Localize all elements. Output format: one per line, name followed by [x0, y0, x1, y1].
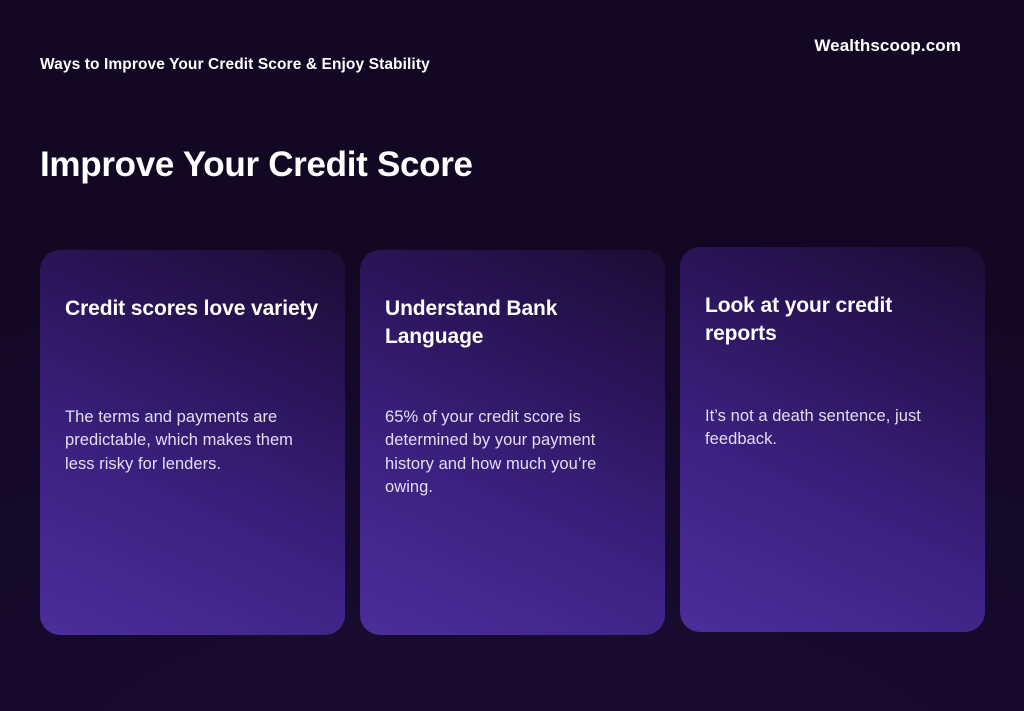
info-card: Look at your credit reports It’s not a d…: [680, 247, 985, 632]
info-card: Credit scores love variety The terms and…: [40, 250, 345, 635]
card-body-text: 65% of your credit score is determined b…: [385, 406, 643, 500]
card-body-text: The terms and payments are predictable, …: [65, 406, 323, 476]
card-body-text: It’s not a death sentence, just feedback…: [705, 405, 963, 452]
slide-canvas: Ways to Improve Your Credit Score & Enjo…: [0, 0, 1024, 711]
page-title: Improve Your Credit Score: [40, 146, 473, 185]
header-eyebrow-text: Ways to Improve Your Credit Score & Enjo…: [40, 56, 430, 74]
card-title: Look at your credit reports: [705, 292, 961, 348]
card-title: Credit scores love variety: [65, 295, 321, 323]
brand-wordmark: Wealthscoop.com: [814, 36, 961, 56]
info-card: Understand Bank Language 65% of your cre…: [360, 250, 665, 635]
card-title: Understand Bank Language: [385, 295, 641, 351]
slide-header: Ways to Improve Your Credit Score & Enjo…: [0, 0, 1024, 100]
